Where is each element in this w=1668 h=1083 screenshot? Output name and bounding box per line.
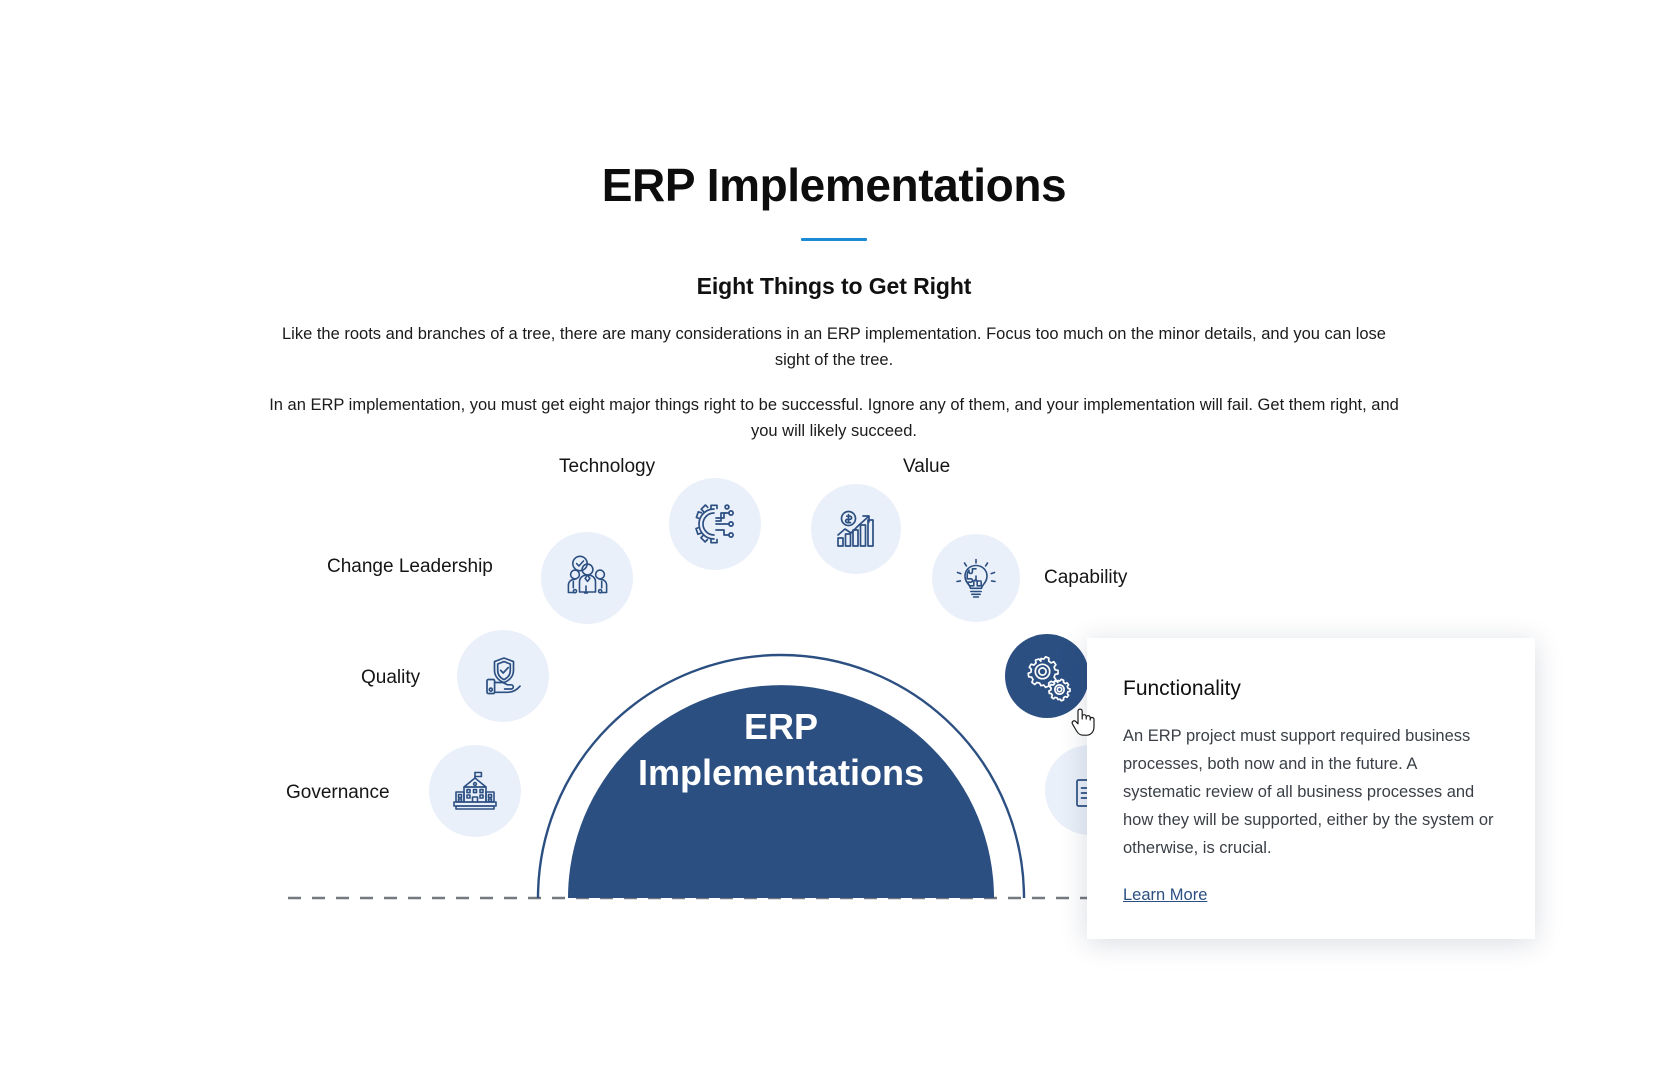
title-underline-rule xyxy=(801,238,867,241)
node-bubble-change-leadership[interactable] xyxy=(541,532,633,624)
growth-chart-icon xyxy=(832,505,880,553)
node-bubble-quality[interactable] xyxy=(457,630,549,722)
government-building-icon xyxy=(450,766,500,816)
node-label-capability: Capability xyxy=(1044,568,1127,587)
node-bubble-capability[interactable] xyxy=(932,534,1020,622)
gear-circuit-icon xyxy=(690,499,740,549)
tooltip-title: Functionality xyxy=(1123,678,1499,699)
node-bubble-technology[interactable] xyxy=(669,478,761,570)
intro-paragraph-1: Like the roots and branches of a tree, t… xyxy=(269,321,1399,373)
node-bubble-value[interactable] xyxy=(811,484,901,574)
page-header: ERP Implementations Eight Things to Get … xyxy=(0,160,1668,444)
functionality-tooltip-card: Functionality An ERP project must suppor… xyxy=(1087,638,1535,939)
node-label-value: Value xyxy=(903,457,950,476)
node-bubble-functionality[interactable] xyxy=(1005,634,1089,718)
tooltip-body-text: An ERP project must support required bus… xyxy=(1123,722,1499,862)
learn-more-link[interactable]: Learn More xyxy=(1123,886,1207,905)
page-title: ERP Implementations xyxy=(0,160,1668,211)
lightbulb-puzzle-icon xyxy=(952,554,1000,602)
intro-paragraph-2: In an ERP implementation, you must get e… xyxy=(269,392,1399,444)
node-label-governance: Governance xyxy=(286,783,390,802)
node-label-technology: Technology xyxy=(559,457,655,476)
erp-implementations-page: ERP Implementations Eight Things to Get … xyxy=(0,0,1668,1083)
shield-hand-icon xyxy=(478,651,528,701)
page-subtitle: Eight Things to Get Right xyxy=(0,273,1668,300)
node-label-change-leadership: Change Leadership xyxy=(327,557,493,576)
people-check-icon xyxy=(562,553,612,603)
center-hub-semicircle xyxy=(568,685,994,898)
node-bubble-governance[interactable] xyxy=(429,745,521,837)
node-label-quality: Quality xyxy=(361,668,420,687)
gears-icon xyxy=(1021,650,1073,702)
